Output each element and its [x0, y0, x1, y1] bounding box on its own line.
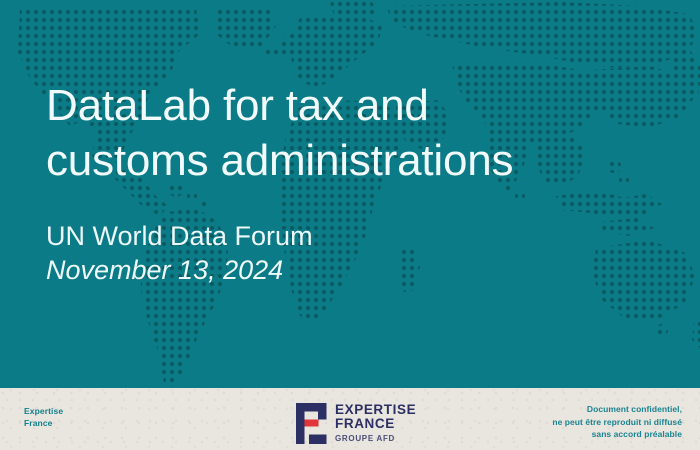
expertise-france-logo: EXPERTISE FRANCE GROUPE AFD [296, 401, 436, 445]
confidentiality-notice: Document confidentiel, ne peut être repr… [472, 403, 682, 441]
presentation-slide: DataLab for tax and customs administrati… [0, 0, 700, 450]
logo-word-expertise: EXPERTISE [335, 403, 416, 418]
logo-word-france: FRANCE [335, 417, 416, 432]
subtitle-date: November 13, 2024 [46, 253, 566, 287]
slide-subtitle: UN World Data Forum November 13, 2024 [46, 219, 566, 288]
footer-organisation-label: Expertise France [24, 405, 63, 429]
expertise-france-wordmark: EXPERTISE FRANCE GROUPE AFD [335, 403, 416, 444]
dotted-world-map-graphic [0, 0, 700, 388]
expertise-france-monogram-icon [296, 403, 328, 444]
slide-title: DataLab for tax and customs administrati… [46, 78, 646, 189]
logo-word-groupe-afd: GROUPE AFD [335, 435, 416, 444]
slide-hero-background: DataLab for tax and customs administrati… [0, 0, 700, 388]
subtitle-event-name: UN World Data Forum [46, 219, 566, 253]
